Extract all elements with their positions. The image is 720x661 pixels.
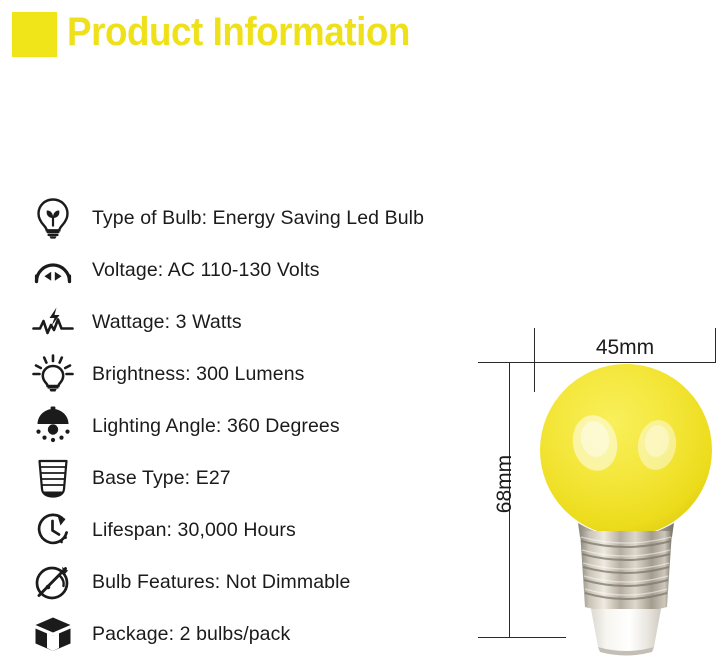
spec-row-lifespan: Lifespan: 30,000 Hours (30, 504, 460, 556)
brightness-icon (30, 352, 76, 396)
lifespan-clock-icon (30, 508, 76, 552)
spec-row-base-type: Base Type: E27 (30, 452, 460, 504)
spec-label: Base Type: E27 (76, 467, 231, 490)
spec-row-bulb-features: Bulb Features: Not Dimmable (30, 556, 460, 608)
spec-label: Lighting Angle: 360 Degrees (76, 415, 340, 438)
spec-row-voltage: Voltage: AC 110-130 Volts (30, 244, 460, 296)
header: Product Information (0, 0, 720, 70)
energy-bulb-icon (30, 196, 76, 240)
spec-label: Brightness: 300 Lumens (76, 363, 305, 386)
lighting-angle-icon (30, 404, 76, 448)
spec-row-wattage: Wattage: 3 Watts (30, 296, 460, 348)
specification-list: Type of Bulb: Energy Saving Led Bulb Vol… (30, 192, 460, 660)
spec-row-type-of-bulb: Type of Bulb: Energy Saving Led Bulb (30, 192, 460, 244)
spec-label: Bulb Features: Not Dimmable (76, 571, 350, 594)
height-dimension-label: 68mm (493, 434, 517, 534)
spec-label: Wattage: 3 Watts (76, 311, 242, 334)
spec-label: Package: 2 bulbs/pack (76, 623, 290, 646)
spec-row-brightness: Brightness: 300 Lumens (30, 348, 460, 400)
not-dimmable-icon (30, 560, 76, 604)
voltage-range-icon (30, 248, 76, 292)
spec-label: Type of Bulb: Energy Saving Led Bulb (76, 207, 424, 230)
screw-base-icon (30, 456, 76, 500)
page-title: Product Information (67, 9, 410, 55)
height-dimension-line (509, 362, 510, 638)
package-box-icon (30, 612, 76, 656)
spec-row-package: Package: 2 bulbs/pack (30, 608, 460, 660)
product-bulb-image (520, 355, 720, 661)
wattage-bolt-icon (30, 300, 76, 344)
spec-label: Voltage: AC 110-130 Volts (76, 259, 320, 282)
header-accent-square (12, 12, 57, 57)
spec-label: Lifespan: 30,000 Hours (76, 519, 296, 542)
spec-row-lighting-angle: Lighting Angle: 360 Degrees (30, 400, 460, 452)
